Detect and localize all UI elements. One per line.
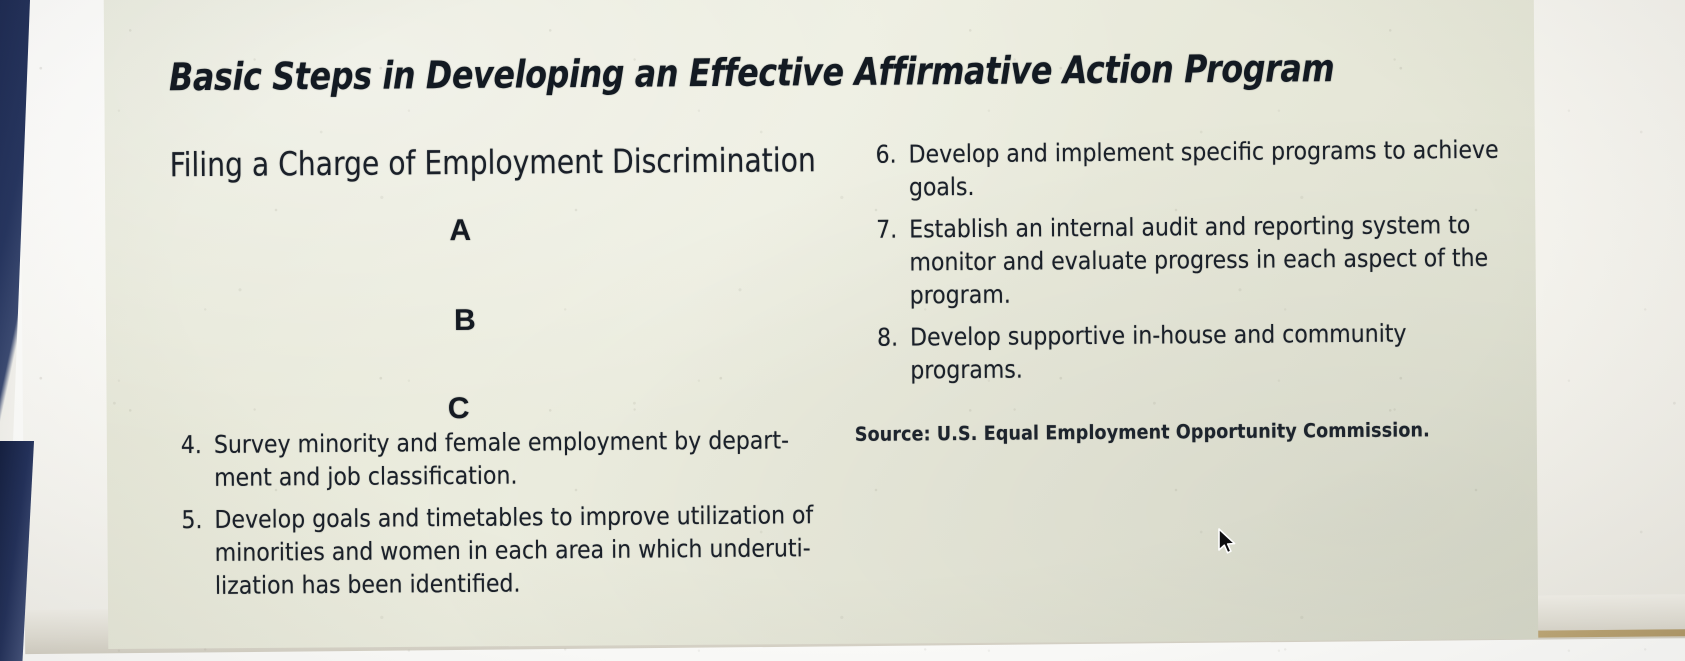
list-item-text: Develop goals and timetables to improve … [214, 500, 813, 600]
list-item-text: Establish an internal audit and reportin… [909, 210, 1488, 310]
step-letter-a: A [90, 211, 830, 251]
list-item-text: Survey minority and female employment by… [214, 425, 789, 492]
list-item-text: Develop supportive in-house and communit… [910, 319, 1407, 385]
step-letter-c: C [85, 389, 831, 429]
list-item: 5. Develop goals and timetables to impro… [172, 498, 833, 602]
list-item-number: 5. [172, 503, 202, 536]
left-steps-list: 4. Survey minority and female employment… [172, 423, 833, 602]
feature-content: Basic Steps in Developing an Effective A… [0, 0, 1685, 661]
list-item: 7. Establish an internal audit and repor… [867, 208, 1508, 312]
mouse-pointer-icon [1216, 527, 1238, 557]
right-column: 6. Develop and implement specific progra… [866, 133, 1508, 446]
list-item-number: 6. [866, 138, 896, 171]
list-item: 8. Develop supportive in-house and commu… [868, 316, 1508, 387]
list-item: 4. Survey minority and female employment… [172, 423, 832, 494]
left-column: Filing a Charge of Employment Discrimina… [170, 140, 834, 611]
list-item: 6. Develop and implement specific progra… [866, 133, 1506, 204]
step-letter-b: B [99, 301, 831, 341]
list-item-number: 7. [867, 213, 897, 246]
source-attribution: Source: U.S. Equal Employment Opportunit… [855, 418, 1509, 446]
right-steps-list: 6. Develop and implement specific progra… [866, 133, 1508, 387]
photographed-textbook-page: Basic Steps in Developing an Effective A… [0, 0, 1685, 661]
list-item-number: 4. [172, 428, 202, 461]
section-heading-filing-a-charge: Filing a Charge of Employment Discrimina… [170, 140, 797, 184]
list-item-number: 8. [868, 321, 898, 354]
page-title: Basic Steps in Developing an Effective A… [169, 46, 1335, 99]
list-item-text: Develop and implement specific programs … [909, 135, 1499, 202]
